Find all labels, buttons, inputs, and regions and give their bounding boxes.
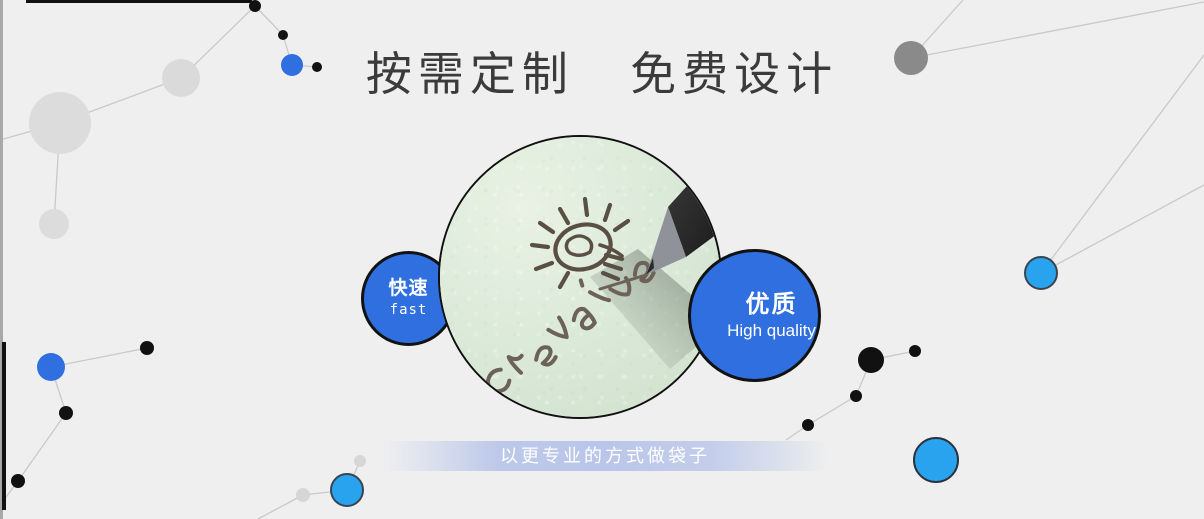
network-edge bbox=[258, 495, 303, 519]
network-edge bbox=[303, 490, 347, 495]
network-node bbox=[914, 438, 958, 482]
network-edge bbox=[786, 425, 808, 440]
network-edge bbox=[871, 351, 915, 360]
network-node bbox=[850, 390, 862, 402]
network-node bbox=[140, 341, 154, 355]
page-title: 按需定制 免费设计 bbox=[0, 46, 1204, 102]
network-edge bbox=[255, 6, 283, 35]
creative-photo-circle bbox=[438, 135, 722, 419]
lightbulb-sketch-icon bbox=[440, 137, 722, 419]
network-node bbox=[59, 406, 73, 420]
tagline-band: 以更专业的方式做袋子 bbox=[383, 441, 827, 471]
left-edge-bar bbox=[2, 342, 6, 510]
tagline-text: 以更专业的方式做袋子 bbox=[500, 444, 710, 468]
feature-bubble-fast-cn: 快速 bbox=[388, 277, 428, 301]
network-edge bbox=[856, 360, 871, 396]
network-node bbox=[354, 455, 366, 467]
network-edge bbox=[18, 413, 66, 481]
network-node bbox=[909, 345, 921, 357]
network-node bbox=[278, 30, 288, 40]
feature-bubble-fast-en: fast bbox=[390, 301, 428, 320]
network-edge bbox=[347, 461, 360, 490]
network-node bbox=[331, 474, 363, 506]
network-edge bbox=[1041, 185, 1204, 273]
network-edge bbox=[808, 396, 856, 425]
network-edge bbox=[51, 348, 147, 367]
network-edge bbox=[54, 123, 60, 224]
promo-banner: 按需定制 免费设计 bbox=[0, 0, 1204, 519]
network-node bbox=[39, 209, 69, 239]
network-node bbox=[858, 347, 884, 373]
feature-bubble-quality-en: High quality bbox=[727, 320, 816, 342]
network-node bbox=[37, 353, 65, 381]
feature-bubble-quality[interactable]: 优质 High quality bbox=[688, 249, 821, 382]
network-node bbox=[802, 419, 814, 431]
top-edge-bar bbox=[26, 0, 252, 3]
network-edge bbox=[51, 367, 66, 413]
network-node bbox=[1025, 257, 1057, 289]
network-node bbox=[11, 474, 25, 488]
feature-bubble-quality-cn: 优质 bbox=[746, 290, 798, 320]
network-edge bbox=[0, 123, 60, 140]
network-node bbox=[296, 488, 310, 502]
